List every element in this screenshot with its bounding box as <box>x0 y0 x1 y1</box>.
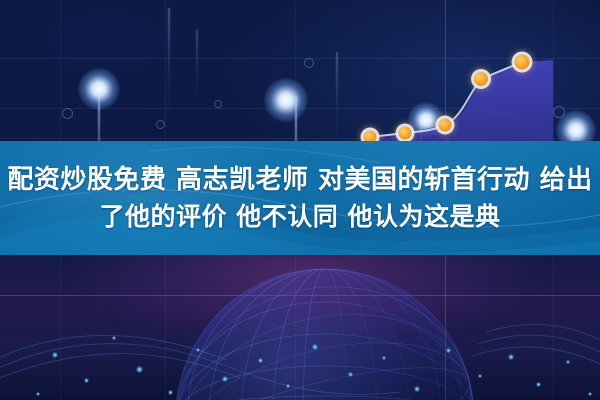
caption-line-1: 配资炒股免费 高志凯老师 对美国的斩首行动 给出 <box>7 164 592 197</box>
data-point <box>512 52 533 73</box>
data-point <box>471 69 491 89</box>
data-point <box>436 116 455 135</box>
caption-band: 配资炒股免费 高志凯老师 对美国的斩首行动 给出 了他的评价 他不认同 他认为这… <box>0 141 600 255</box>
data-point <box>396 124 415 143</box>
caption-text: 配资炒股免费 高志凯老师 对美国的斩首行动 给出 了他的评价 他不认同 他认为这… <box>0 141 600 255</box>
banner-image: 配资炒股免费 高志凯老师 对美国的斩首行动 给出 了他的评价 他不认同 他认为这… <box>0 0 600 400</box>
caption-line-2: 了他的评价 他不认同 他认为这是典 <box>100 201 501 232</box>
